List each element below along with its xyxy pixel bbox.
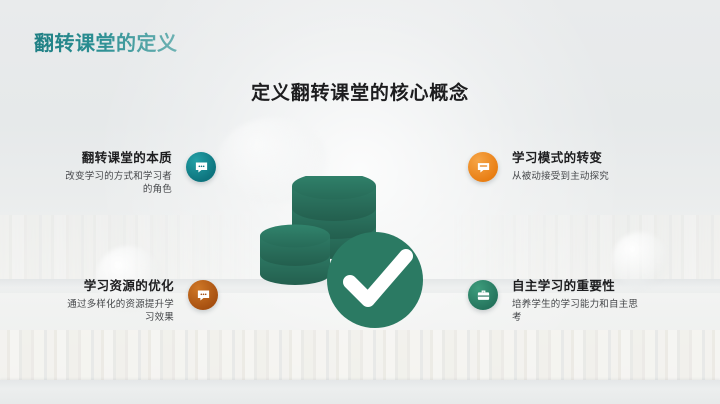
callout-self-directed-learning-description: 培养学生的学习能力和自主思考 — [512, 298, 644, 324]
slide-canvas: 翻转课堂的定义 定义翻转课堂的核心概念 — [0, 0, 720, 404]
chat-bubble-dots-glyph — [196, 288, 211, 303]
callout-mode-shift-texts: 学习模式的转变 从被动接受到主动探究 — [512, 150, 609, 183]
callout-essence-texts: 翻转课堂的本质 改变学习的方式和学习者的角色 — [62, 150, 172, 196]
main-heading: 定义翻转课堂的核心概念 — [0, 78, 720, 105]
briefcase-glyph — [476, 288, 491, 303]
callout-self-directed-learning-title: 自主学习的重要性 — [512, 278, 615, 294]
callout-mode-shift[interactable]: 学习模式的转变 从被动接受到主动探究 — [468, 150, 668, 183]
chat-bubble-icon[interactable] — [468, 152, 498, 182]
coin-stacks-with-checkmark-icon — [258, 176, 448, 336]
callout-self-directed-learning[interactable]: 自主学习的重要性 培养学生的学习能力和自主思考 — [468, 278, 673, 324]
callout-essence-description: 改变学习的方式和学习者的角色 — [62, 170, 172, 196]
chat-bubble-dots-icon[interactable] — [188, 280, 218, 310]
chat-bubble-glyph — [476, 160, 491, 175]
page-title: 翻转课堂的定义 — [34, 27, 178, 56]
chat-bubble-dots-icon[interactable] — [186, 152, 216, 182]
callout-resource-optimization-description: 通过多样化的资源提升学习效果 — [62, 298, 174, 324]
callout-mode-shift-title: 学习模式的转变 — [512, 150, 602, 166]
callout-resource-optimization-title: 学习资源的优化 — [84, 278, 174, 294]
callout-essence[interactable]: 翻转课堂的本质 改变学习的方式和学习者的角色 — [46, 150, 216, 196]
briefcase-icon[interactable] — [468, 280, 498, 310]
chat-bubble-dots-glyph — [194, 160, 209, 175]
central-artwork — [258, 176, 448, 336]
callout-essence-title: 翻转课堂的本质 — [82, 150, 172, 166]
callout-mode-shift-description: 从被动接受到主动探究 — [512, 170, 609, 183]
callout-self-directed-learning-texts: 自主学习的重要性 培养学生的学习能力和自主思考 — [512, 278, 644, 324]
background-shelf-plank — [0, 380, 720, 404]
callout-resource-optimization-texts: 学习资源的优化 通过多样化的资源提升学习效果 — [62, 278, 174, 324]
callout-resource-optimization[interactable]: 学习资源的优化 通过多样化的资源提升学习效果 — [46, 278, 218, 324]
